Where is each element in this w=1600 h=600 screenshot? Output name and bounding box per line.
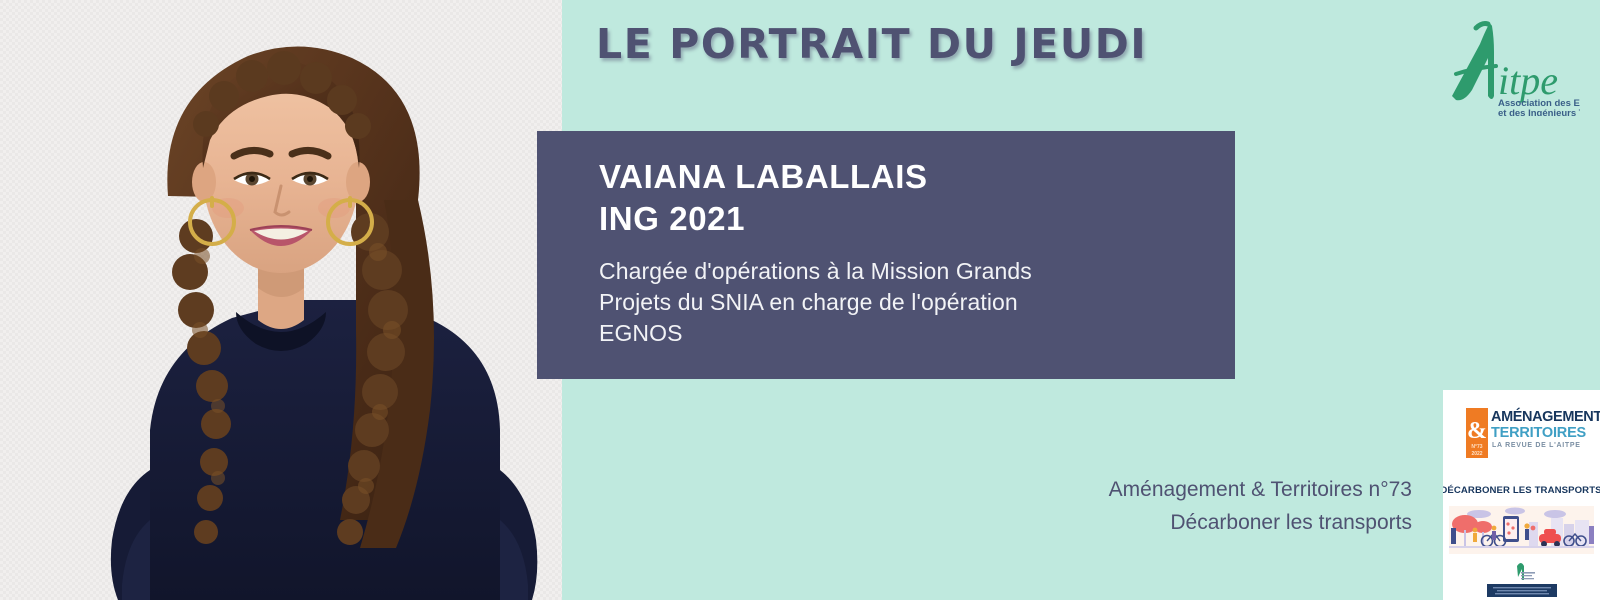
magazine-cover-thumbnail[interactable]: & N°73 2022 AMÉNAGEMENT TERRITOIRES LA R… [1443, 390, 1600, 600]
profile-card: VAIANA LABALLAIS ING 2021 Chargée d'opér… [537, 131, 1235, 379]
page-title: LE PORTRAIT DU JEUDI [596, 20, 1147, 68]
magazine-issue-year: 2022 [1471, 451, 1482, 457]
magazine-title-line1: AMÉNAGEMENT [1491, 408, 1600, 425]
aitpe-logo-icon[interactable]: itpe Association des ENTPE Alumni et des… [1412, 18, 1580, 116]
portrait-banner: LE PORTRAIT DU JEUDI VAIANA LABALLAIS IN… [0, 0, 1600, 600]
magazine-illustration [1449, 506, 1594, 554]
magazine-issue-number: N°73 [1471, 444, 1482, 450]
publication-caption: Aménagement & Territoires n°73 Décarbone… [1109, 474, 1412, 539]
magazine-headline: DÉCARBONER LES TRANSPORTS [1443, 484, 1600, 496]
aitpe-tagline-line2: et des Ingénieurs TPE [1498, 108, 1580, 116]
magazine-ampersand: & [1467, 418, 1487, 444]
magazine-title-line2: TERRITOIRES [1491, 425, 1587, 441]
svg-text:itpe: itpe [1498, 58, 1558, 103]
magazine-subtitle: LA REVUE DE L'AITPE [1492, 442, 1581, 449]
profile-role: Chargée d'opérations à la Mission Grands… [599, 256, 1119, 350]
portrait-photo [0, 0, 562, 600]
profile-name: VAIANA LABALLAIS ING 2021 [599, 156, 1235, 240]
